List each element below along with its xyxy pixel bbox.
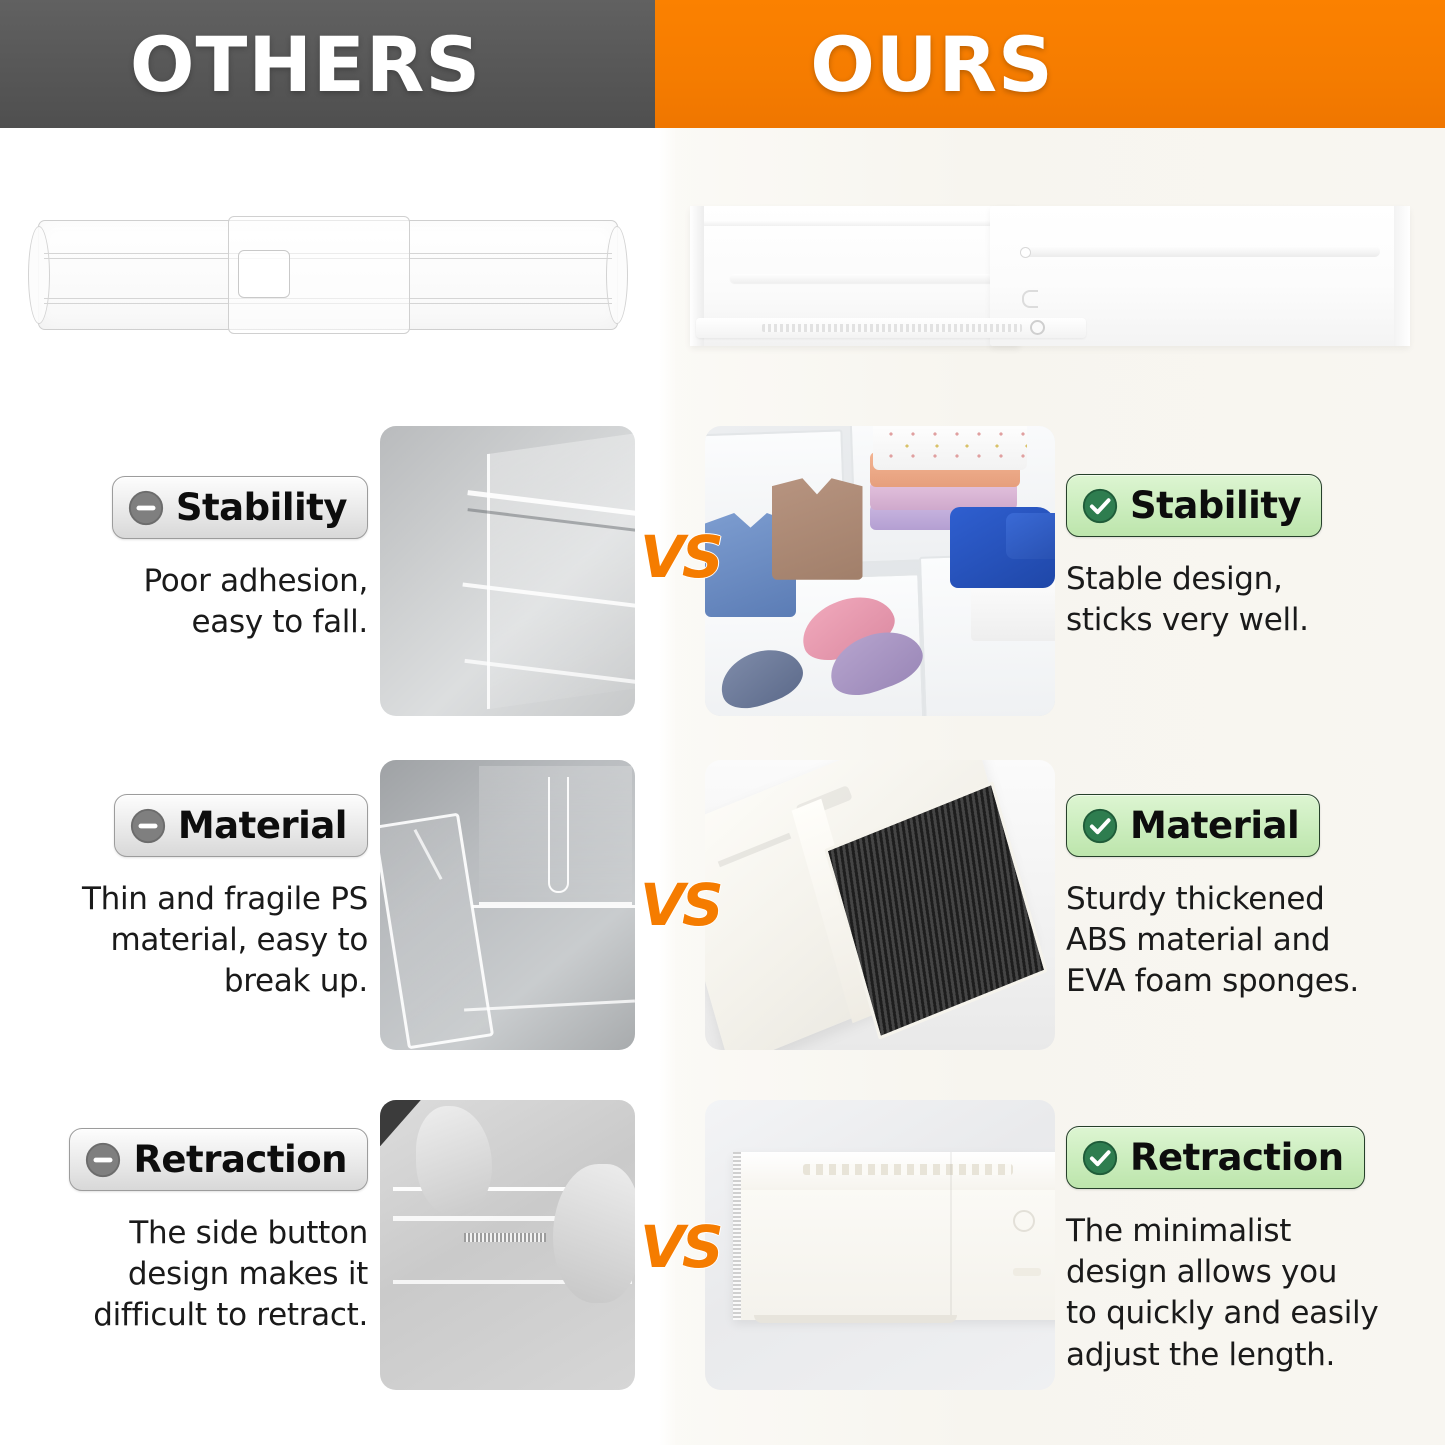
- stability-right-text-block: Stability Stable design,sticks very well…: [1066, 418, 1416, 718]
- white-divider-slot-hole: [1020, 247, 1031, 258]
- comparison-row-retraction: Retraction The side buttondesign makes i…: [0, 1092, 1445, 1392]
- stability-positive-description: Stable design,sticks very well.: [1066, 559, 1309, 641]
- material-negative-description: Thin and fragile PSmaterial, easy tobrea…: [82, 879, 368, 1003]
- clear-divider-side-button: [238, 250, 290, 298]
- comparison-infographic: OTHERS OURS: [0, 0, 1445, 1445]
- retraction-left-text-block: Retraction The side buttondesign makes i…: [38, 1092, 368, 1392]
- check-circle-icon: [1081, 807, 1119, 845]
- vs-marker-stability: VS: [640, 520, 720, 594]
- material-positive-description: Sturdy thickenedABS material andEVA foam…: [1066, 879, 1359, 1003]
- minus-circle-icon: [129, 807, 167, 845]
- clear-divider-left-cap: [28, 226, 50, 324]
- retraction-left-photo: [380, 1100, 635, 1390]
- vs-marker-material: VS: [640, 868, 720, 942]
- minus-circle-icon: [84, 1141, 122, 1179]
- white-divider-hook-mark: [1022, 290, 1038, 308]
- check-circle-icon: [1081, 487, 1119, 525]
- ours-header: OURS: [655, 0, 1445, 128]
- minus-circle-icon: [127, 489, 165, 527]
- retraction-right-text-block: Retraction The minimalistdesign allows y…: [1066, 1092, 1416, 1392]
- stability-negative-label: Stability: [176, 486, 347, 529]
- white-divider-left-rail: [730, 274, 1000, 283]
- white-divider-track-hole: [1030, 320, 1045, 335]
- material-right-photo: [705, 760, 1055, 1050]
- retraction-positive-description: The minimalistdesign allows youto quickl…: [1066, 1211, 1378, 1376]
- material-negative-label: Material: [178, 804, 347, 847]
- material-right-text-block: Material Sturdy thickenedABS material an…: [1066, 752, 1416, 1052]
- vs-marker-retraction: VS: [640, 1210, 720, 1284]
- material-positive-label: Material: [1130, 804, 1299, 847]
- check-circle-icon: [1081, 1139, 1119, 1177]
- stability-left-text-block: Stability Poor adhesion,easy to fall.: [38, 418, 368, 718]
- comparison-row-material: Material Thin and fragile PSmaterial, ea…: [0, 752, 1445, 1052]
- material-positive-badge: Material: [1066, 794, 1320, 857]
- header-bar: OTHERS OURS: [0, 0, 1445, 128]
- stability-right-photo: [705, 426, 1055, 716]
- stability-negative-badge: Stability: [112, 476, 368, 539]
- retraction-positive-badge: Retraction: [1066, 1126, 1365, 1189]
- stability-left-photo: [380, 426, 635, 716]
- others-header: OTHERS: [0, 0, 655, 128]
- hero-product-row: [0, 160, 1445, 390]
- stability-positive-badge: Stability: [1066, 474, 1322, 537]
- stability-positive-label: Stability: [1130, 484, 1301, 527]
- white-divider-product-image: [690, 206, 1410, 346]
- retraction-negative-description: The side buttondesign makes itdifficult …: [93, 1213, 368, 1337]
- retraction-negative-label: Retraction: [133, 1138, 347, 1181]
- stability-negative-description: Poor adhesion,easy to fall.: [143, 561, 368, 643]
- white-divider-right-wall: [1394, 206, 1410, 346]
- others-title: OTHERS: [130, 20, 481, 109]
- material-negative-badge: Material: [114, 794, 368, 857]
- white-divider-track-teeth: [762, 324, 1022, 332]
- retraction-negative-badge: Retraction: [69, 1128, 368, 1191]
- white-divider-slide-slot: [1020, 246, 1380, 257]
- retraction-right-photo: [705, 1100, 1055, 1390]
- material-left-photo: [380, 760, 635, 1050]
- comparison-row-stability: Stability Poor adhesion,easy to fall.: [0, 418, 1445, 718]
- clear-divider-right-cap: [606, 226, 628, 324]
- retraction-positive-label: Retraction: [1130, 1136, 1344, 1179]
- ours-title: OURS: [810, 20, 1054, 109]
- material-left-text-block: Material Thin and fragile PSmaterial, ea…: [38, 752, 368, 1052]
- clear-divider-product-image: [38, 220, 618, 330]
